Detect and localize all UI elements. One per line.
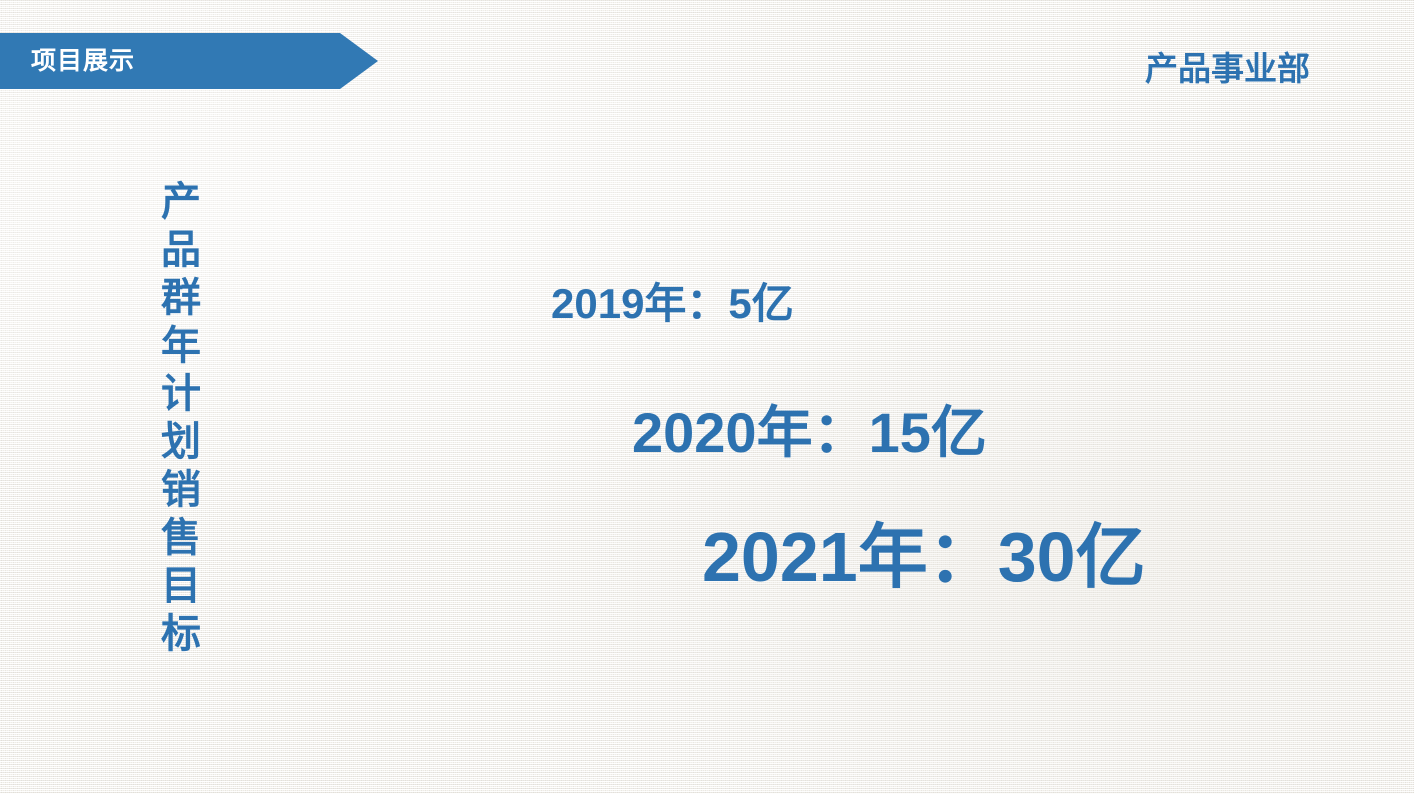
goals-list: 2019年：5亿 2020年：15亿 2021年：30亿: [0, 0, 1414, 794]
goal-item-2021: 2021年：30亿: [702, 522, 1146, 592]
goal-item-2019: 2019年：5亿: [551, 283, 794, 325]
slide-canvas: 项目展示 产品事业部 产 品 群 年 计 划 销 售 目 标 2019年：5亿 …: [0, 0, 1414, 794]
goal-item-2020: 2020年：15亿: [632, 405, 987, 461]
